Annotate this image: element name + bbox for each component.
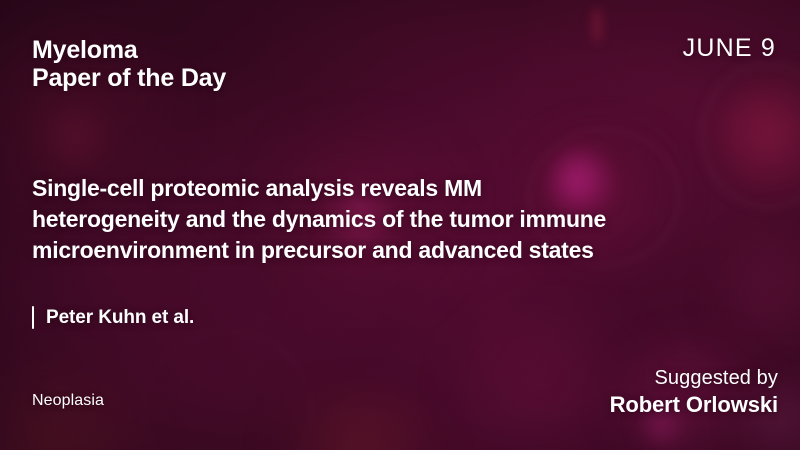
myeloma-paper-of-the-day-card: Myeloma Paper of the Day JUNE 9 Single-c… [0,0,800,450]
pipe-divider-icon [32,306,34,329]
paper-title: Single-cell proteomic analysis reveals M… [32,173,704,266]
card-content: Myeloma Paper of the Day JUNE 9 Single-c… [0,0,800,450]
masthead-line-2: Paper of the Day [32,64,226,92]
paper-authors-label: Peter Kuhn et al. [46,307,194,329]
paper-title-line-1: Single-cell proteomic analysis reveals M… [32,173,704,204]
suggested-by-block: Suggested by Robert Orlowski [610,366,778,418]
date-label: JUNE 9 [683,34,776,63]
masthead: Myeloma Paper of the Day [32,36,226,92]
suggested-by-prefix: Suggested by [610,366,778,391]
journal-name: Neoplasia [32,392,104,410]
masthead-line-1: Myeloma [32,36,226,64]
paper-title-line-2: heterogeneity and the dynamics of the tu… [32,204,704,235]
paper-title-line-3: microenvironment in precursor and advanc… [32,235,704,266]
suggested-by-name: Robert Orlowski [610,391,778,418]
paper-authors: Peter Kuhn et al. [32,306,194,329]
